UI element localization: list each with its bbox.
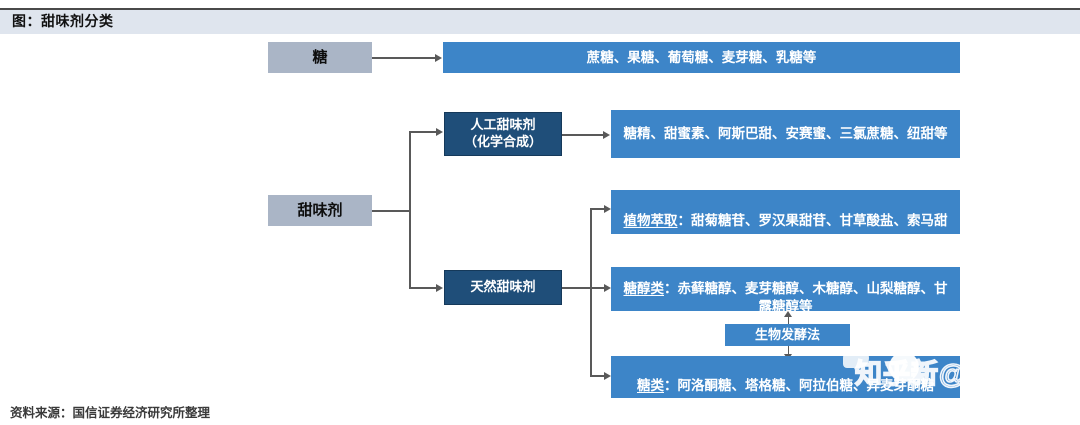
arrowhead-sugar-to-items (435, 54, 442, 62)
node-sugar-alcohols-text: 糖醇类：赤藓糖醇、麦芽糖醇、木糖醇、山梨糖醇、甘露糖醇等 (619, 263, 952, 315)
connector-natural-to-alcohol (590, 287, 605, 289)
connector-natural-trunk (562, 287, 592, 289)
sugar-alcohols-label: 糖醇类 (624, 281, 665, 296)
connector-natural-to-rare (590, 375, 605, 377)
diagram-canvas: 图：甜味剂分类 糖 蔗糖、果糖、葡萄糖、麦芽糖、乳糖等 甜味剂 人工甜味剂 （化… (0, 0, 1080, 425)
rare-sugars-label: 糖类 (637, 378, 664, 393)
plant-extract-items: ：甜菊糖苷、罗汉果甜苷、甘草酸盐、索马甜 (678, 213, 948, 228)
connector-artificial-to-items (562, 134, 604, 136)
figure-header-bar (0, 8, 1080, 34)
rare-sugars-items: ：阿洛酮糖、塔格糖、阿拉伯糖、异麦芽酮糖 (664, 378, 934, 393)
connector-root-to-artificial (409, 131, 437, 133)
sugar-alcohols-items: ：赤藓糖醇、麦芽糖醇、木糖醇、山梨糖醇、甘露糖醇等 (664, 281, 948, 313)
source-note: 资料来源：国信证券经济研究所整理 (10, 402, 210, 421)
node-biofermentation[interactable]: 生物发酵法 (725, 324, 850, 346)
node-sugar-items[interactable]: 蔗糖、果糖、葡萄糖、麦芽糖、乳糖等 (443, 42, 960, 73)
page-title: 图：甜味剂分类 (12, 11, 114, 31)
node-artificial-items[interactable]: 糖精、甜蜜素、阿斯巴甜、安赛蜜、三氯蔗糖、纽甜等 (611, 110, 960, 158)
connector-natural-to-plant (590, 208, 605, 210)
arrowhead-root-to-artificial (436, 128, 443, 136)
node-sweetener[interactable]: 甜味剂 (268, 195, 372, 226)
plant-extract-label: 植物萃取 (624, 213, 678, 228)
connector-root-to-natural (409, 287, 437, 289)
arrowhead-natural-to-plant (604, 205, 611, 213)
node-rare-sugars-text: 糖类：阿洛酮糖、塔格糖、阿拉伯糖、异麦芽酮糖 (637, 360, 934, 395)
connector-sugar-to-items (372, 57, 436, 59)
node-sugar-alcohols[interactable]: 糖醇类：赤藓糖醇、麦芽糖醇、木糖醇、山梨糖醇、甘露糖醇等 (611, 267, 960, 311)
arrowhead-natural-to-alcohol (604, 284, 611, 292)
node-artificial-sweetener[interactable]: 人工甜味剂 （化学合成） (444, 112, 562, 156)
node-plant-extract[interactable]: 植物萃取：甜菊糖苷、罗汉果甜苷、甘草酸盐、索马甜 (611, 190, 960, 234)
node-natural-sweetener[interactable]: 天然甜味剂 (444, 270, 562, 305)
connector-natural-spine (590, 208, 592, 376)
node-plant-extract-text: 植物萃取：甜菊糖苷、罗汉果甜苷、甘草酸盐、索马甜 (624, 195, 948, 230)
connector-fermentation-up (788, 315, 790, 324)
node-sugar[interactable]: 糖 (268, 42, 372, 73)
arrowhead-root-to-natural (436, 284, 443, 292)
connector-root-spine (409, 131, 411, 288)
connector-root-trunk (372, 210, 410, 212)
arrowhead-artificial-to-items (603, 131, 610, 139)
node-rare-sugars[interactable]: 糖类：阿洛酮糖、塔格糖、阿拉伯糖、异麦芽酮糖 (611, 356, 960, 398)
arrowhead-natural-to-rare (604, 372, 611, 380)
